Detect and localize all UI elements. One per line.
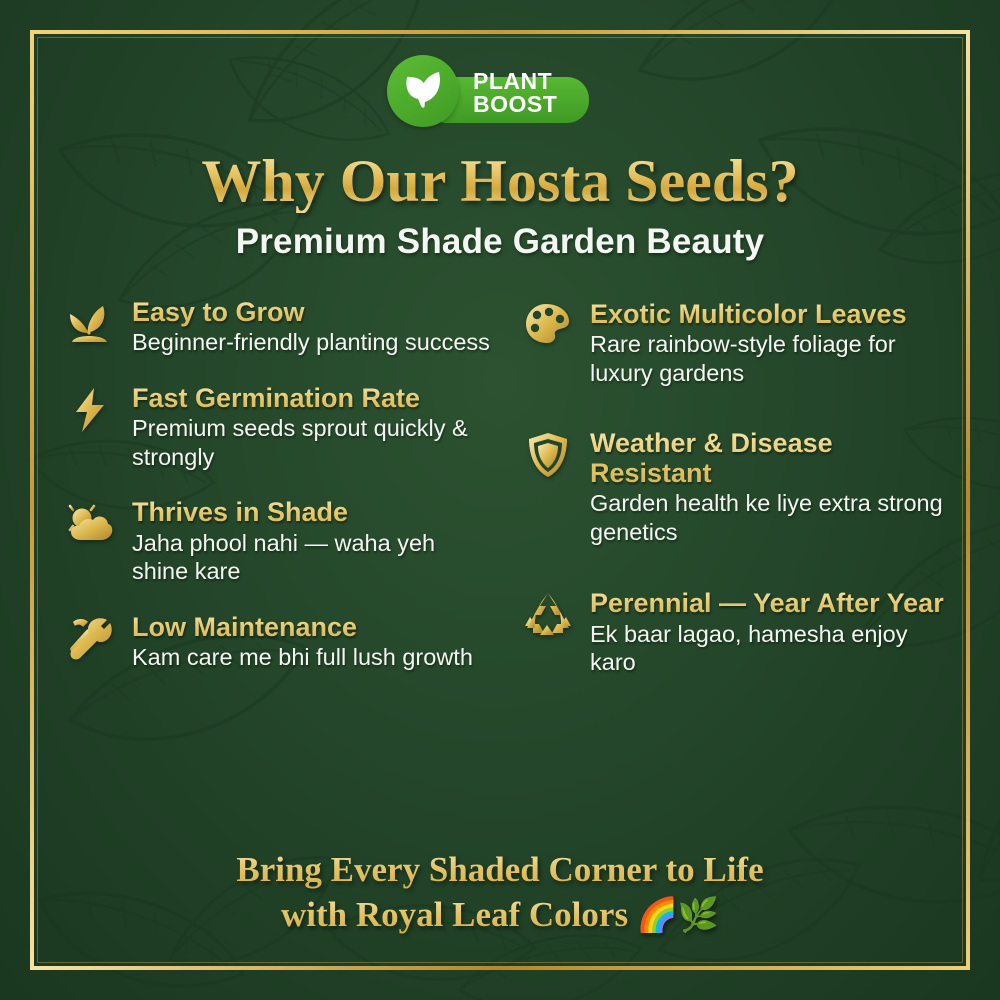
feature-item: Weather & Disease Resistant Garden healt…: [520, 428, 948, 547]
feature-description: Jaha phool nahi — waha yeh shine kare: [132, 529, 490, 586]
feature-title: Weather & Disease Resistant: [590, 428, 948, 488]
feature-item: Perennial — Year After Year Ek baar laga…: [520, 588, 948, 677]
feature-title: Exotic Multicolor Leaves: [590, 299, 948, 329]
rainbow-herb-emoji: 🌈🌿: [637, 898, 719, 934]
leaf-pair-icon: [387, 55, 459, 127]
feature-item: Exotic Multicolor Leaves Rare rainbow-st…: [520, 299, 948, 388]
feature-description: Beginner-friendly planting success: [132, 328, 490, 357]
shield-icon: [520, 428, 576, 481]
seedling-icon: [62, 297, 118, 350]
footer-tagline: Bring Every Shaded Corner to Life with R…: [0, 848, 1000, 938]
hammer-and-wrench-icon: [62, 612, 118, 665]
feature-description: Ek baar lagao, hamesha enjoy karo: [590, 620, 948, 677]
feature-item: Easy to Grow Beginner-friendly planting …: [62, 297, 490, 357]
sun-behind-cloud-icon: [62, 497, 118, 550]
recycle-icon: [520, 588, 576, 641]
page-subtitle: Premium Shade Garden Beauty: [0, 222, 1000, 262]
feature-description: Kam care me bhi full lush growth: [132, 643, 490, 672]
feature-title: Low Maintenance: [132, 612, 490, 642]
lightning-bolt-icon: [62, 383, 118, 436]
feature-item: Low Maintenance Kam care me bhi full lus…: [62, 612, 490, 672]
footer-line-2-text: with Royal Leaf Colors: [281, 895, 637, 934]
feature-title: Perennial — Year After Year: [590, 588, 948, 618]
feature-title: Fast Germination Rate: [132, 383, 490, 413]
poster: PLANT BOOST Why Our Hosta Seeds? Premium…: [0, 0, 1000, 1000]
feature-description: Premium seeds sprout quickly & strongly: [132, 414, 490, 471]
brand-name-line1: PLANT: [473, 70, 613, 92]
features-column-right: Exotic Multicolor Leaves Rare rainbow-st…: [520, 297, 948, 703]
brand-name: PLANT BOOST: [473, 67, 613, 114]
feature-title: Easy to Grow: [132, 297, 490, 327]
feature-item: Fast Germination Rate Premium seeds spro…: [62, 383, 490, 472]
feature-item: Thrives in Shade Jaha phool nahi — waha …: [62, 497, 490, 586]
footer-line-2: with Royal Leaf Colors 🌈🌿: [0, 893, 1000, 938]
brand-name-line2: BOOST: [473, 93, 613, 115]
feature-description: Rare rainbow-style foliage for luxury ga…: [590, 330, 948, 387]
page-title: Why Our Hosta Seeds?: [0, 150, 1000, 213]
feature-description: Garden health ke liye extra strong genet…: [590, 489, 948, 546]
features-section: Easy to Grow Beginner-friendly planting …: [62, 297, 948, 703]
features-column-left: Easy to Grow Beginner-friendly planting …: [62, 297, 490, 703]
footer-line-1: Bring Every Shaded Corner to Life: [0, 848, 1000, 893]
artist-palette-icon: [520, 299, 576, 352]
brand-logo: PLANT BOOST: [0, 57, 1000, 125]
feature-title: Thrives in Shade: [132, 497, 490, 527]
